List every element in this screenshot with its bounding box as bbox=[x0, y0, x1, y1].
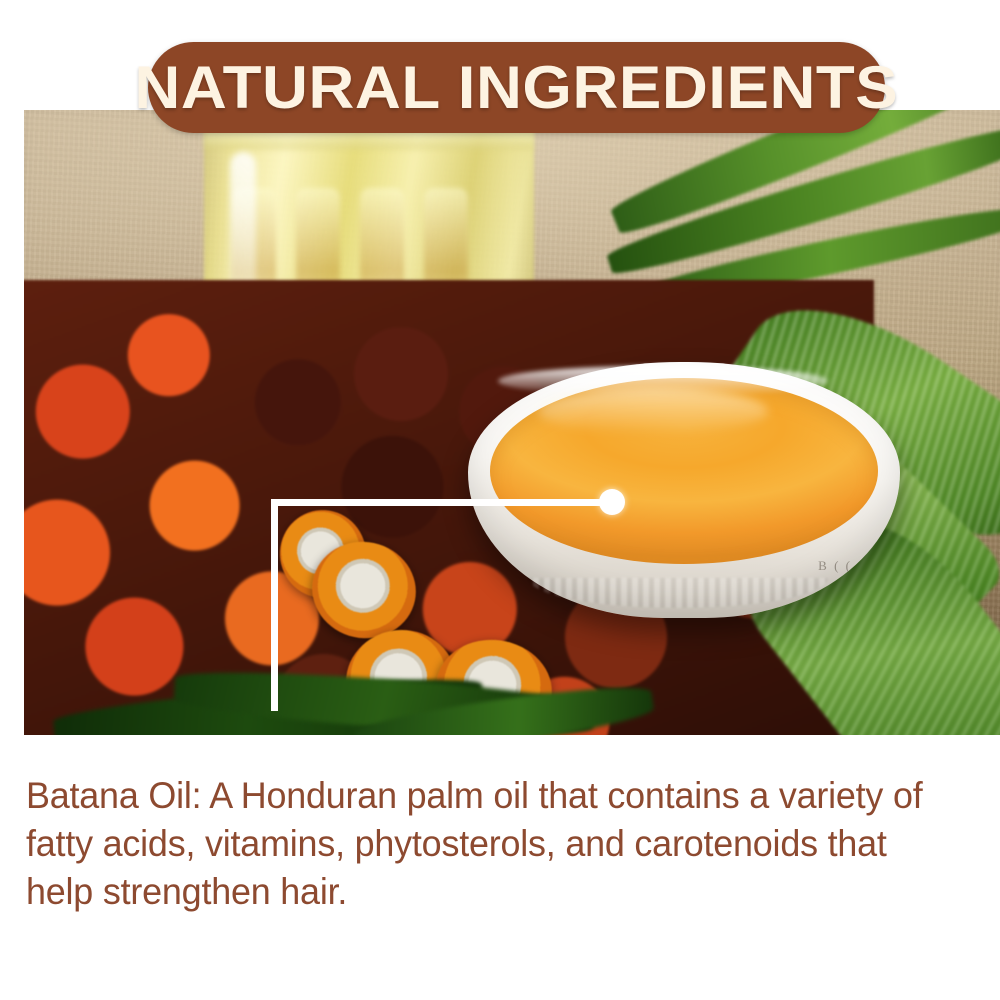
natural-ingredients-banner: NATURAL INGREDIENTS bbox=[148, 42, 885, 133]
callout-line-vertical bbox=[271, 499, 278, 711]
natural-ingredients-infographic: B ( ( BATANA OIL NATURAL INGREDIENTS Bat… bbox=[0, 0, 1000, 1000]
white-oil-bowl: B ( ( bbox=[468, 362, 900, 618]
bowl-maker-mark: B ( ( bbox=[818, 558, 852, 574]
product-ingredient-photo: B ( ( BATANA OIL bbox=[24, 110, 1000, 735]
banner-title: NATURAL INGREDIENTS bbox=[135, 58, 899, 118]
bowl-rim-highlight bbox=[498, 366, 828, 396]
ingredient-description: Batana Oil: A Honduran palm oil that con… bbox=[26, 772, 948, 916]
callout-line-horizontal bbox=[271, 499, 606, 506]
callout-dot-icon bbox=[599, 489, 625, 515]
